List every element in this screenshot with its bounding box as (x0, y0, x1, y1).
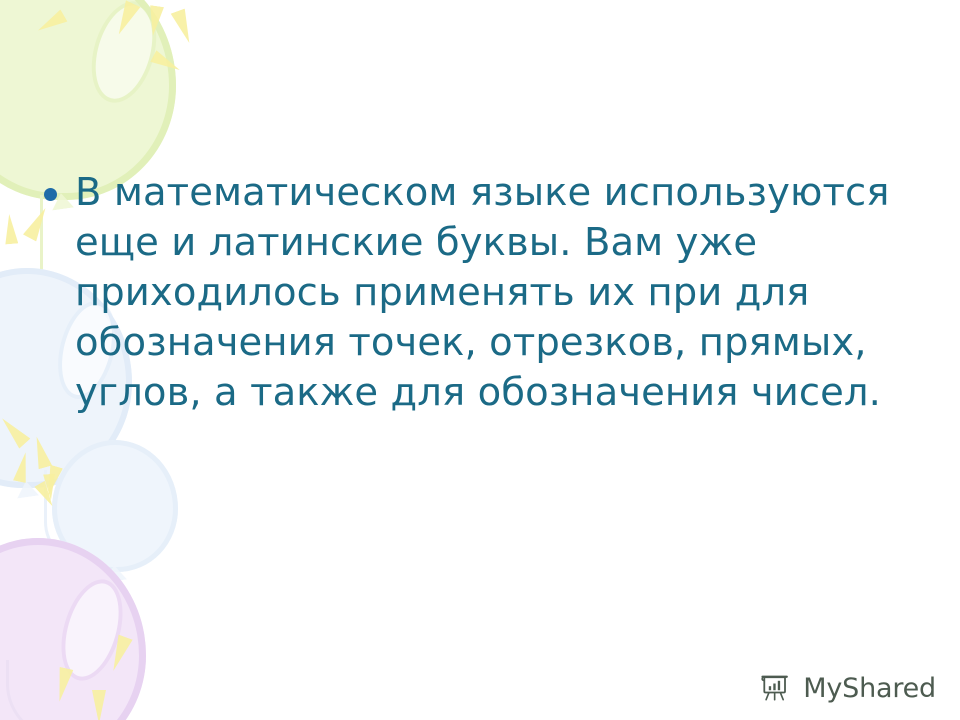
myshared-watermark[interactable]: MyShared (758, 670, 936, 706)
sunburst-ray-icon (13, 451, 32, 483)
sunburst-ray-icon (43, 474, 57, 501)
sunburst-ray-icon (106, 635, 132, 674)
sunburst-ray-icon (150, 50, 183, 76)
sunburst-ray-icon (146, 5, 164, 37)
balloon-highlight (86, 0, 162, 105)
presentation-slide: В математическом языке используются еще … (0, 0, 960, 720)
sunburst-ray-icon (34, 481, 57, 510)
sunburst-ray-icon (35, 9, 68, 36)
balloon-highlight (56, 577, 129, 683)
sunburst-ray-icon (92, 690, 106, 720)
sunburst-ray-icon (3, 213, 19, 244)
sunburst-ray-icon (112, 0, 141, 38)
balloon-purple-icon (0, 538, 146, 720)
balloon-string-purple (6, 660, 61, 720)
bullet-list-item: В математическом языке используются еще … (44, 168, 924, 418)
slide-body: В математическом языке используются еще … (44, 168, 924, 418)
balloon-blue-small-icon (52, 440, 178, 572)
sunburst-ray-icon (53, 667, 74, 703)
sunburst-ray-icon (171, 8, 197, 45)
bullet-point-icon (44, 188, 57, 201)
balloon-string-blue (44, 470, 87, 565)
bullet-item-text: В математическом языке используются еще … (75, 168, 924, 418)
sunburst-ray-icon (42, 465, 63, 497)
sunburst-ray-icon (30, 435, 52, 470)
sunburst-ray-icon (0, 413, 30, 448)
flipchart-bar-chart-icon (758, 670, 794, 706)
myshared-wordmark-text: MyShared (803, 675, 936, 702)
